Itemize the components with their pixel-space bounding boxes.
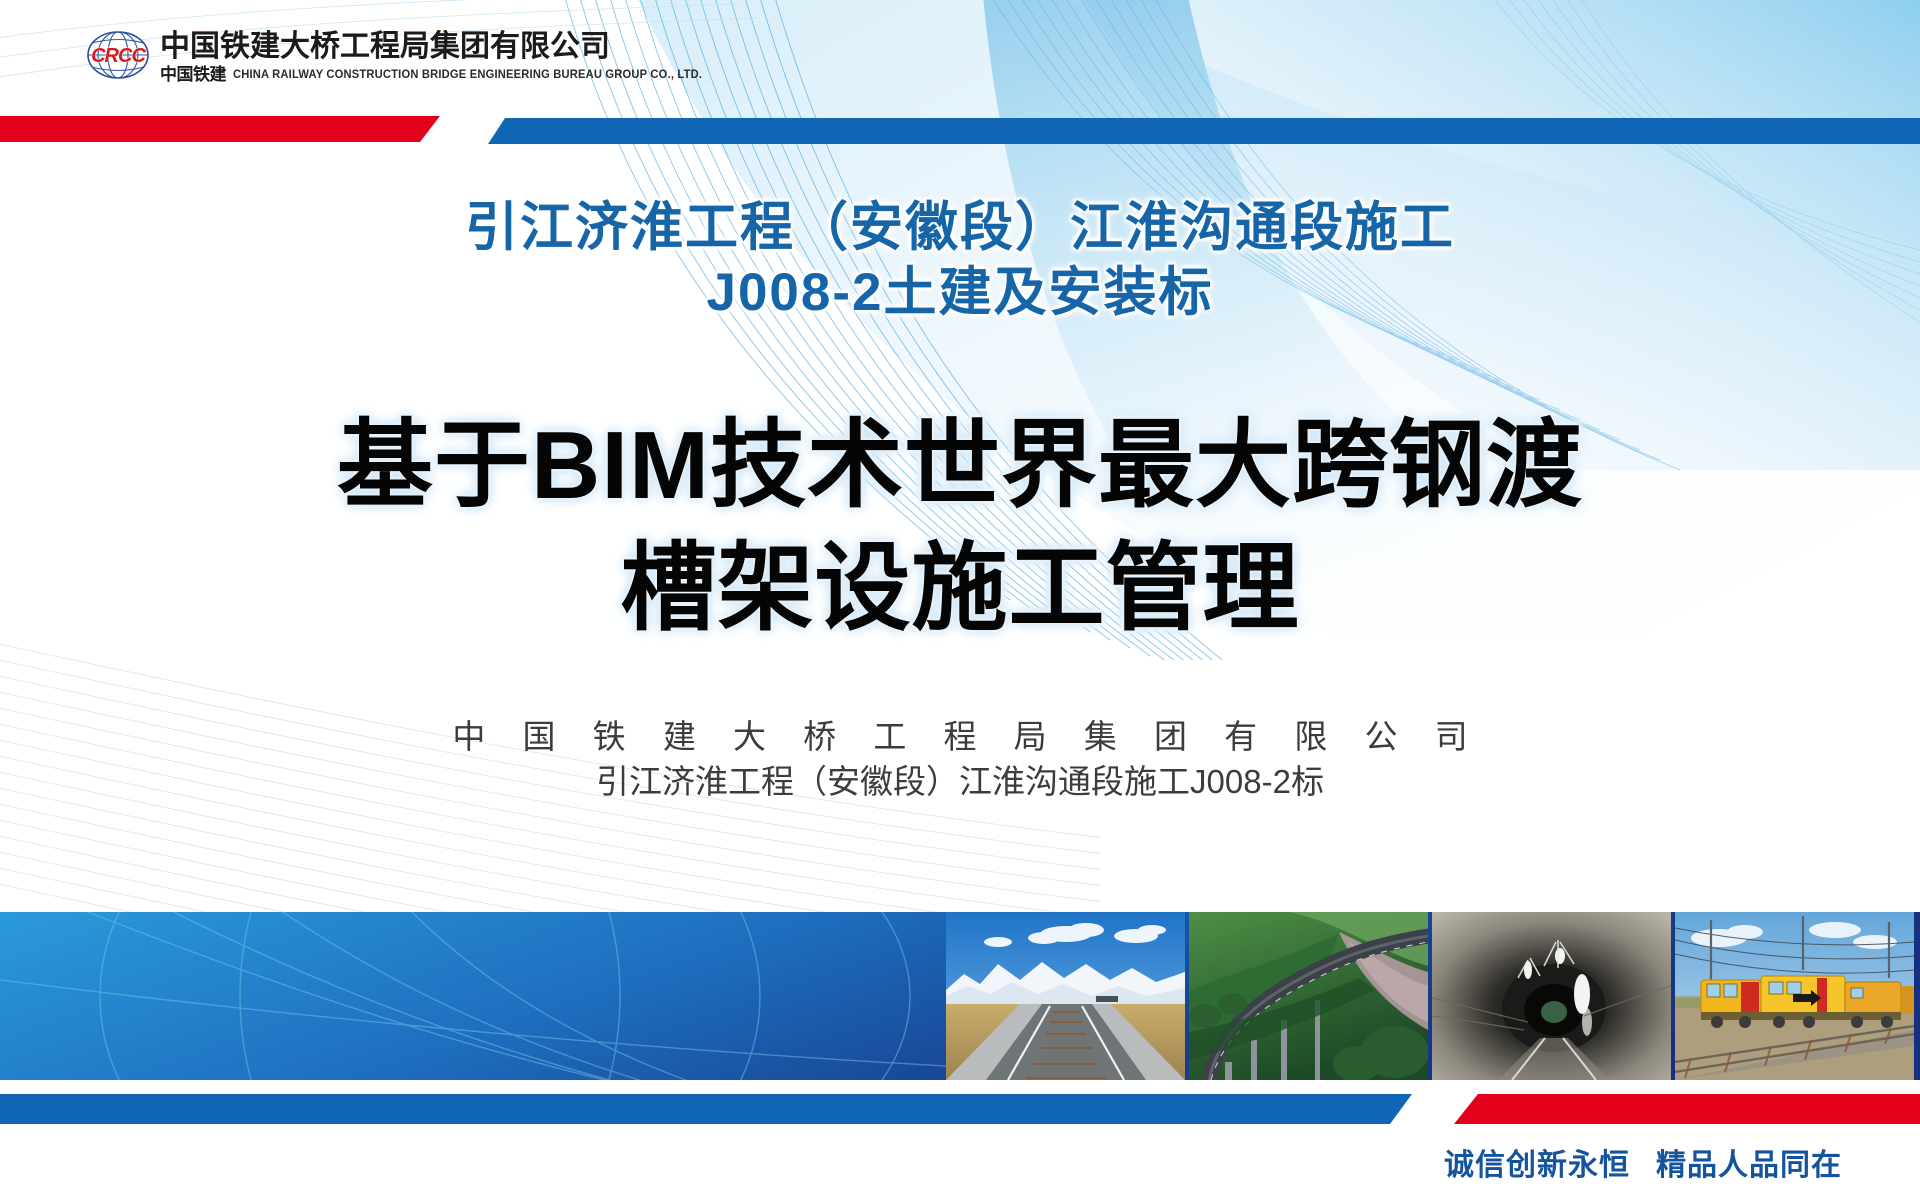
logo-text-group: 中国铁建大桥工程局集团有限公司 中国铁建 CHINA RAILWAY CONST…: [160, 28, 717, 83]
main-title-line-2: 槽架设施工管理: [0, 528, 1920, 651]
subtitle-line-2: J008-2土建及安装标: [0, 261, 1920, 326]
brand-name-cn: 中国铁建: [160, 66, 226, 83]
brand-name-en: CHINA RAILWAY CONSTRUCTION BRIDGE ENGINE…: [233, 70, 702, 83]
subtitle-line-1: 引江济淮工程（安徽段）江淮沟通段施工: [0, 196, 1920, 261]
svg-text:CRCC: CRCC: [91, 45, 146, 67]
title-slide: CRCC 中国铁建大桥工程局集团有限公司 中国铁建 CHINA RAILWAY …: [0, 0, 1920, 1200]
slogan-part-2: 精品人品同在: [1656, 1149, 1842, 1182]
logo-subtitle-row: 中国铁建 CHINA RAILWAY CONSTRUCTION BRIDGE E…: [160, 66, 717, 83]
photo-highway-viaduct: [1189, 912, 1428, 1080]
company-logo: CRCC 中国铁建大桥工程局集团有限公司 中国铁建 CHINA RAILWAY …: [84, 28, 717, 84]
crcc-globe-logo-icon: CRCC: [84, 28, 152, 84]
photo-tunnel: [1432, 912, 1671, 1080]
main-title-line-1: 基于BIM技术世界最大跨钢渡: [0, 405, 1920, 528]
organization-name: 中 国 铁 建 大 桥 工 程 局 集 团 有 限 公 司: [0, 715, 1920, 760]
organization-project: 引江济淮工程（安徽段）江淮沟通段施工J008-2标: [0, 760, 1920, 805]
photo-railway-plateau: [946, 912, 1185, 1080]
bottom-photo-band: [0, 912, 1920, 1080]
footer-accent-stripe: [0, 1088, 1920, 1130]
project-subtitle: 引江济淮工程（安徽段）江淮沟通段施工 J008-2土建及安装标: [0, 196, 1920, 325]
slide-header: CRCC 中国铁建大桥工程局集团有限公司 中国铁建 CHINA RAILWAY …: [0, 0, 1920, 125]
slogan-part-1: 诚信创新永恒: [1444, 1149, 1630, 1182]
organization-block: 中 国 铁 建 大 桥 工 程 局 集 团 有 限 公 司 引江济淮工程（安徽段…: [0, 715, 1920, 804]
photo-maintenance-train: [1675, 912, 1914, 1080]
photo-strip: [946, 912, 1914, 1080]
company-slogan: 诚信创新永恒精品人品同在: [1444, 1140, 1842, 1184]
company-name-cn: 中国铁建大桥工程局集团有限公司: [160, 31, 717, 63]
page-title: 基于BIM技术世界最大跨钢渡 槽架设施工管理: [0, 405, 1920, 651]
